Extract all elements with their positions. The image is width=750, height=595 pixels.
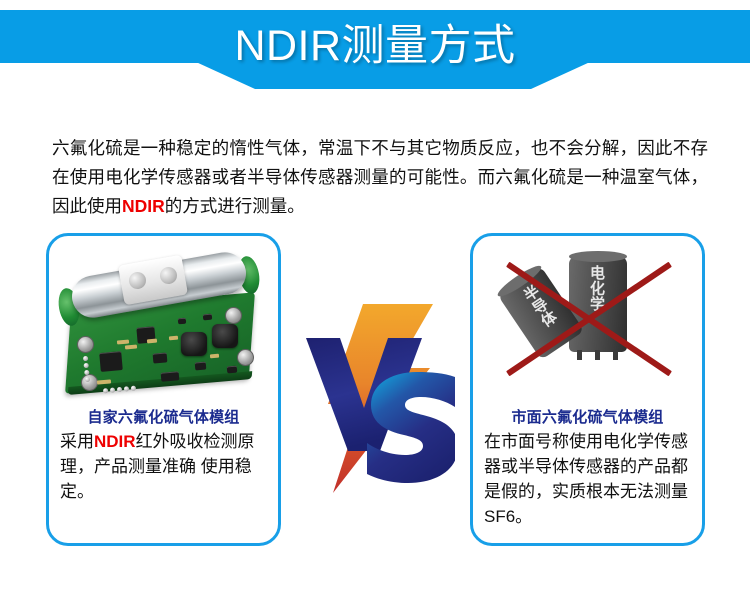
comparison-card-own-module[interactable]: 自家六氟化硫气体模组 采用NDIR红外吸收检测原理，产品测量准确 使用稳定。 [46, 233, 281, 546]
pcb-chip [178, 318, 186, 325]
intro-paragraph: 六氟化硫是一种稳定的惰性气体，常温下不与其它物质反应，也不会分解，因此不存在使用… [52, 134, 708, 221]
pcb-module-image [49, 236, 278, 404]
pcb-inductor [181, 332, 207, 356]
pcb-inductor [212, 324, 238, 348]
cross-out-icon [473, 236, 702, 404]
card-title-right: 市面六氟化硫气体模组 [473, 406, 702, 427]
card-body-left-highlight: NDIR [94, 432, 136, 451]
comparison-card-market-module[interactable]: 电化学 半导体 市面六氟化硫气体模组 在市面号称使用电化学传感器或半导体传感器的… [470, 233, 705, 546]
pcb-pad [147, 339, 157, 344]
intro-text-part2: 的方式进行测量。 [165, 196, 305, 216]
pcb-chip [227, 366, 238, 374]
page-title: NDIR测量方式 [0, 10, 750, 82]
pcb-chip [195, 362, 207, 371]
pcb-pad [169, 336, 178, 341]
pcb-screw-icon [237, 349, 254, 366]
card-body-left: 采用NDIR红外吸收检测原理，产品测量准确 使用稳定。 [49, 427, 278, 504]
pcb-chip [161, 371, 180, 382]
fake-sensor-image: 电化学 半导体 [473, 236, 702, 404]
vs-divider-logo [300, 296, 455, 501]
pcb-artwork [57, 244, 275, 402]
intro-highlight-ndir: NDIR [122, 196, 165, 216]
card-body-right: 在市面号称使用电化学传感器或半导体传感器的产品都是假的，实质根本无法测量SF6。 [473, 427, 702, 529]
vs-logo-svg [300, 296, 455, 501]
pcb-screw-icon [77, 336, 94, 353]
pcb-chip [203, 314, 212, 321]
card-body-left-part1: 采用 [60, 432, 94, 451]
pcb-pad [210, 354, 219, 359]
pcb-screw-icon [225, 307, 242, 324]
page-header-banner: NDIR测量方式 [0, 0, 750, 100]
card-title-left: 自家六氟化硫气体模组 [49, 406, 278, 427]
pcb-chip [153, 352, 168, 363]
sensor-artwork: 电化学 半导体 [473, 236, 702, 404]
pcb-chip [99, 351, 123, 372]
